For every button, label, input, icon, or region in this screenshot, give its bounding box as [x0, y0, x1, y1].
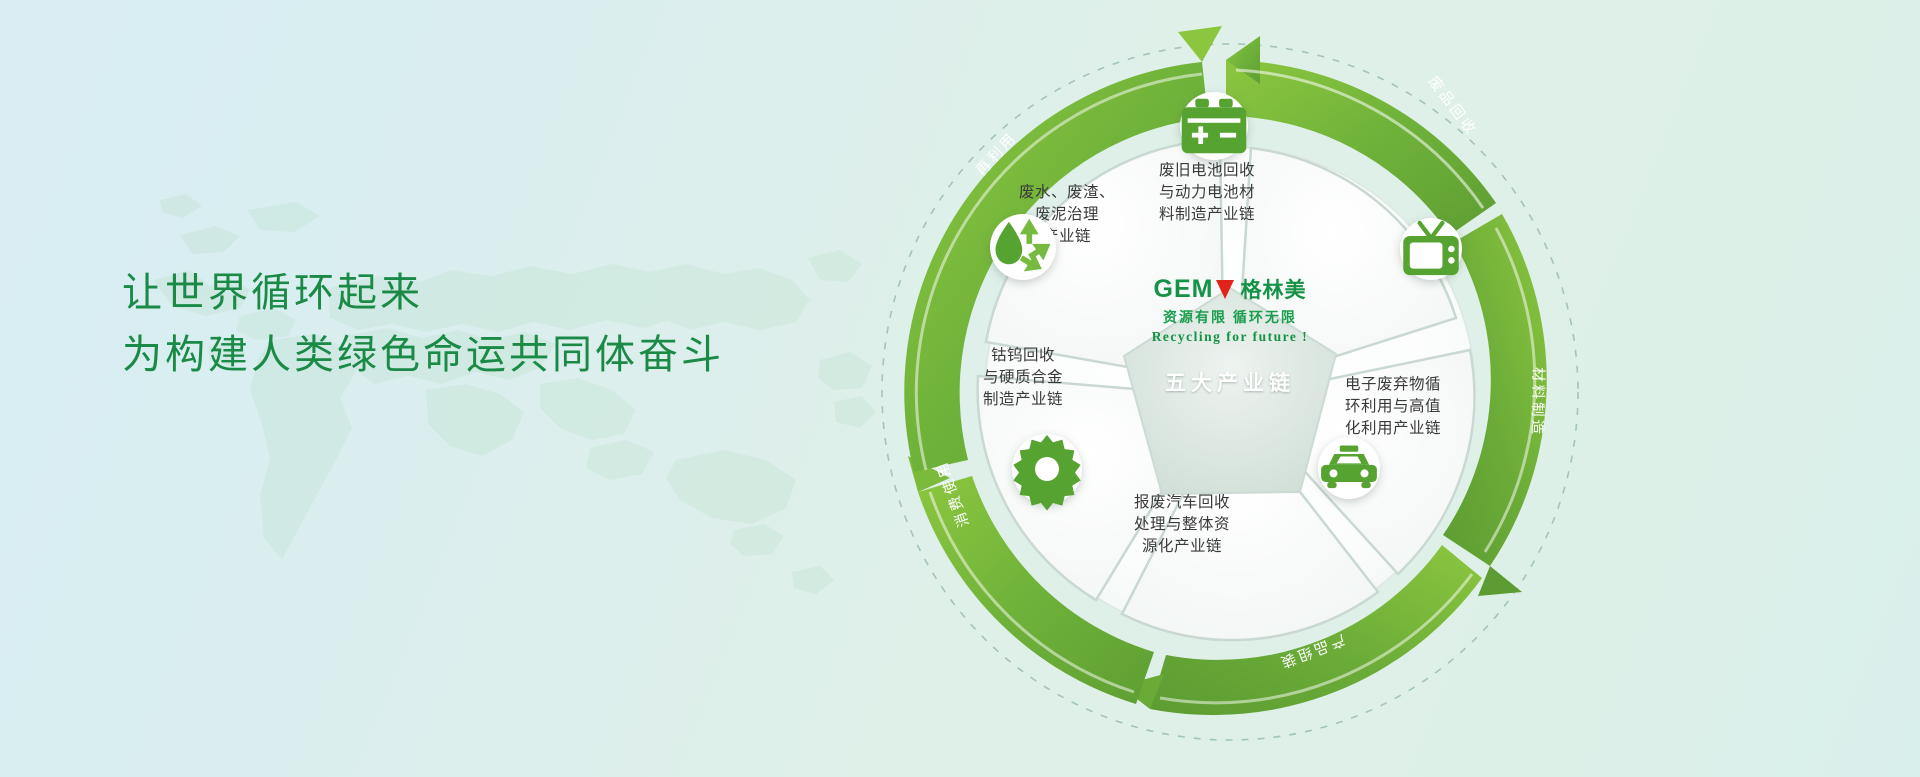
car-icon [1318, 68, 1380, 777]
icon-bubble-battery[interactable] [1180, 92, 1248, 160]
water-recycle-icon [990, 0, 1056, 647]
tv-icon [1400, 0, 1462, 649]
brand-cn: 格林美 [1240, 274, 1306, 304]
five-industry-chain-diagram: 废品回收 材料制造 产品组装 消费使用 再利用 GEM 格林美 资源有限 循环无… [830, 0, 1630, 777]
ring-label-material-manufacturing: 材料制造 [1528, 367, 1546, 437]
headline-line-1: 让世界循环起来 [122, 262, 724, 324]
banner-root: 让世界循环起来 为构建人类绿色命运共同体奋斗 [0, 0, 1920, 777]
headline: 让世界循环起来 为构建人类绿色命运共同体奋斗 [122, 262, 724, 386]
headline-line-2: 为构建人类绿色命运共同体奋斗 [122, 324, 724, 386]
icon-bubble-tv[interactable] [1400, 218, 1462, 280]
battery-icon [1180, 0, 1248, 526]
icon-bubble-water-recycle[interactable] [990, 214, 1056, 280]
icon-bubble-car[interactable] [1318, 437, 1380, 499]
